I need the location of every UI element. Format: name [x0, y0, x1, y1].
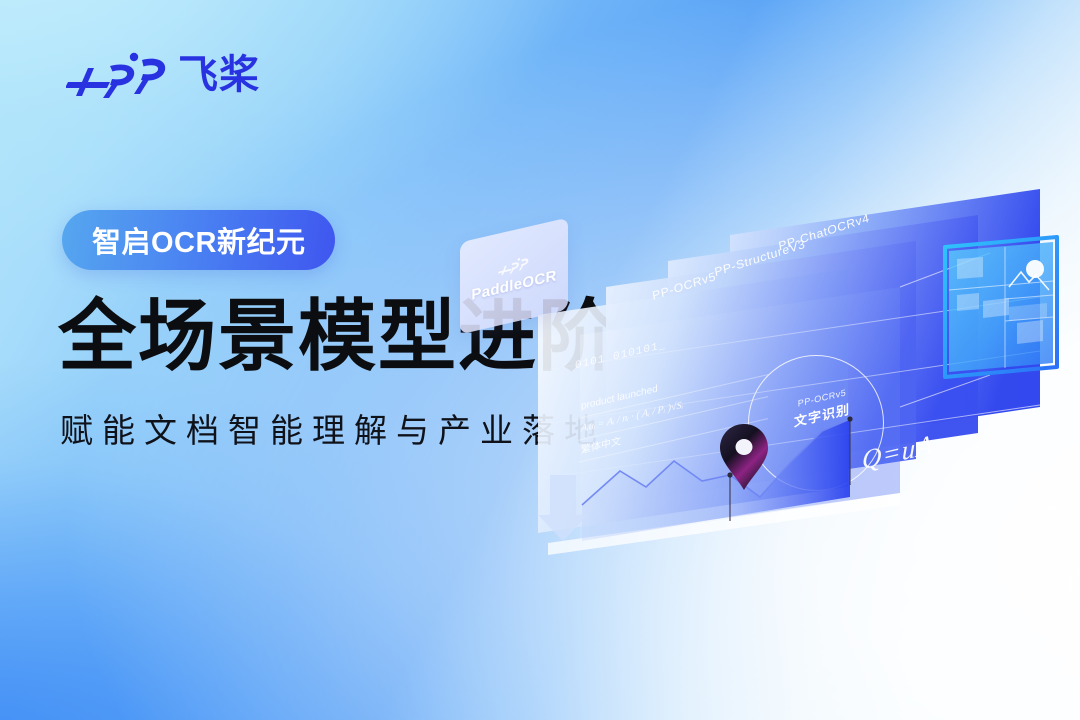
- artwork-stage: PP-OCRv5 PP-StructureV3 PP-ChatOCRv4 Pad…: [430, 175, 1080, 605]
- promo-banner: 飞桨 智启OCR新纪元 全场景模型进阶 赋能文档智能理解与产业落地: [0, 0, 1080, 720]
- paddlepaddle-logo[interactable]: 飞桨: [66, 52, 260, 98]
- logo-wordmark-cn: 飞桨: [178, 55, 260, 95]
- tagline-badge-text: 智启OCR新纪元: [92, 219, 305, 261]
- tagline-badge: 智启OCR新纪元: [62, 210, 335, 270]
- location-pin: [715, 420, 775, 496]
- paddlepaddle-logo-mark: [66, 52, 170, 98]
- document-layout-card: [935, 235, 1067, 383]
